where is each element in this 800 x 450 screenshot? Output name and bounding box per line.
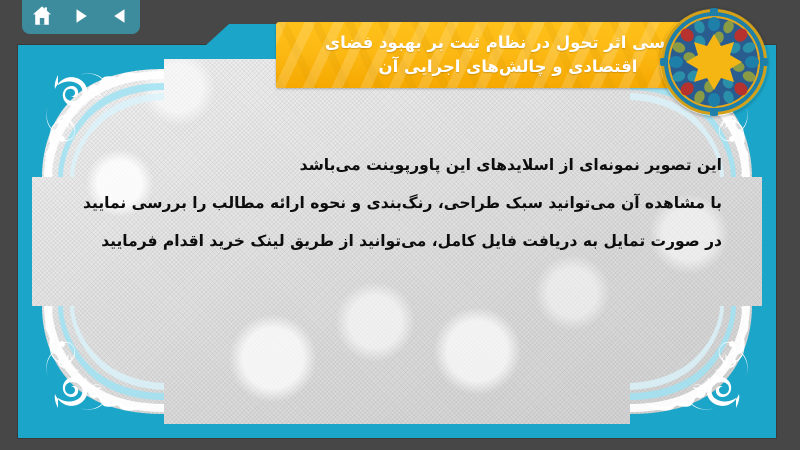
- slide-body-text: این تصویر نمونه‌ای از اسلایدهای این پاور…: [72, 147, 722, 261]
- home-button[interactable]: [29, 3, 55, 29]
- slide-viewer-window: این تصویر نمونه‌ای از اسلایدهای این پاور…: [0, 0, 800, 450]
- body-line-2: با مشاهده آن می‌توانید سبک طراحی، رنگ‌بن…: [72, 185, 722, 223]
- body-line-3: در صورت تمایل به دریافت فایل کامل، می‌تو…: [72, 223, 722, 261]
- arabesque-corner-ornament-bottom-right: [630, 306, 762, 424]
- previous-slide-button[interactable]: [107, 3, 133, 29]
- page-title: بررسی اثر تحول در نظام ثبت بر بهبود فضای…: [279, 31, 713, 79]
- slide-canvas: این تصویر نمونه‌ای از اسلایدهای این پاور…: [32, 59, 762, 424]
- persian-medallion-ornament: [660, 8, 768, 116]
- triangle-right-icon: [71, 6, 91, 26]
- slide-title-banner: بررسی اثر تحول در نظام ثبت بر بهبود فضای…: [276, 22, 716, 88]
- triangle-left-icon: [110, 6, 130, 26]
- home-icon: [31, 5, 53, 27]
- body-line-1: این تصویر نمونه‌ای از اسلایدهای این پاور…: [72, 147, 722, 185]
- slide-navigation-toolbar: [22, 0, 140, 34]
- slide-frame: این تصویر نمونه‌ای از اسلایدهای این پاور…: [18, 45, 776, 438]
- arabesque-corner-ornament-bottom-left: [32, 306, 164, 424]
- next-slide-button[interactable]: [68, 3, 94, 29]
